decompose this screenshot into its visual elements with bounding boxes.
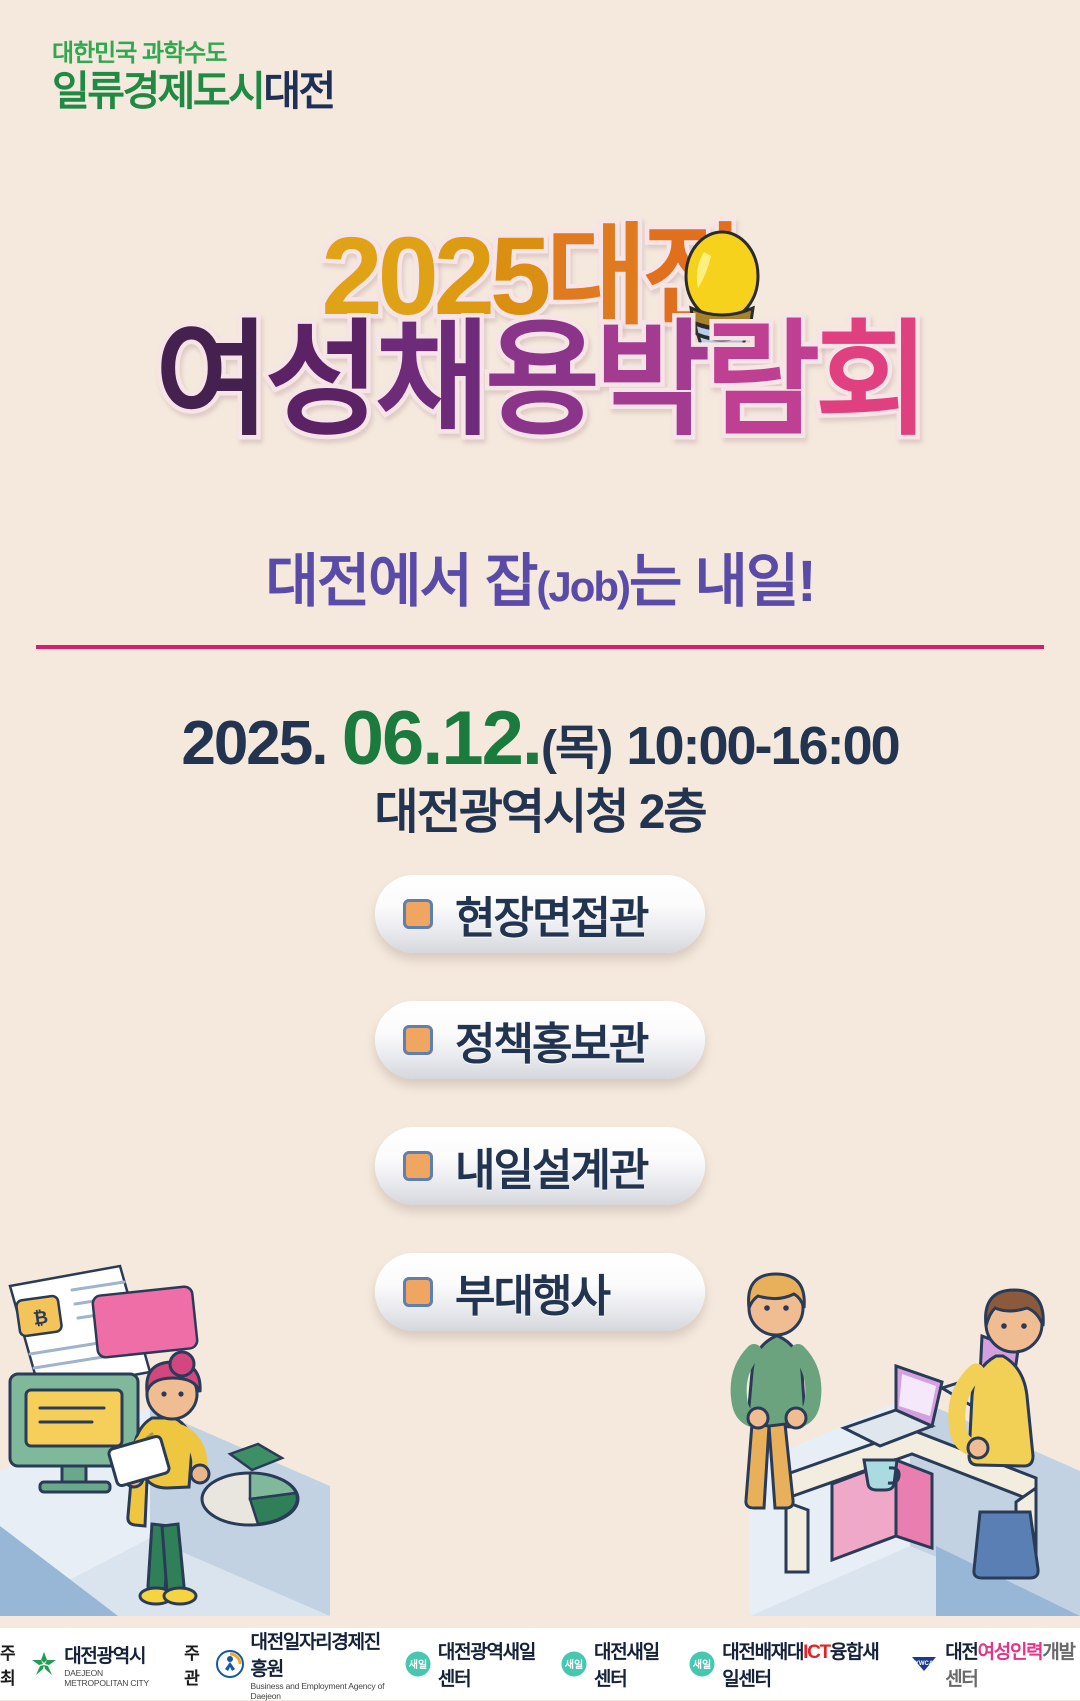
city-tagline: 대한민국 과학수도	[52, 42, 334, 66]
section-divider	[36, 645, 1044, 649]
footer-partner-1: 대전광역새일센터	[438, 1637, 545, 1691]
program-label: 현장면접관	[455, 882, 647, 946]
subtitle-job-word: (Job)	[536, 563, 629, 610]
city-wordmark-navy: 대전	[263, 68, 333, 114]
footer-partner-3: 대전배재대ICT융합새일센터	[722, 1637, 894, 1691]
program-button[interactable]: 부대행사	[375, 1253, 705, 1331]
sponsor-footer: 주최 대전광역시 DAEJEON METROPOLITAN CITY 주관 대전…	[0, 1628, 1080, 1700]
footer-host-key: 주최	[0, 1639, 24, 1689]
footer-host-group: 주최 대전광역시 DAEJEON METROPOLITAN CITY	[0, 1639, 168, 1689]
event-day-of-week: (목)	[541, 722, 611, 775]
orange-square-icon	[403, 1151, 433, 1181]
footer-partner-2: 대전새일센터	[594, 1637, 673, 1691]
footer-organizer-key: 주관	[184, 1639, 208, 1689]
title-char: 여	[155, 318, 265, 443]
ywca-logo-icon: YWCA	[910, 1654, 938, 1674]
event-date-line: 2025. 06.12.(목) 10:00-16:00	[0, 695, 1080, 782]
program-button[interactable]: 내일설계관	[375, 1127, 705, 1205]
saeil-center-icon: 새일	[561, 1651, 587, 1677]
title-char: 채	[375, 318, 485, 443]
event-venue: 대전광역시청 2층	[0, 772, 1080, 842]
city-brand-logo: 대한민국 과학수도 일류경제도시대전	[52, 42, 334, 113]
saeil-center-icon: 새일	[405, 1651, 431, 1677]
footer-partner-4: 대전여성인력개발센터	[945, 1637, 1080, 1691]
title-char: 회	[815, 318, 925, 443]
footer-organizer-sub: Business and Employment Agency of Daejeo…	[251, 1681, 389, 1701]
program-label: 부대행사	[455, 1260, 609, 1324]
illustration-woman-presenting: ₿	[0, 1186, 330, 1616]
event-year: 2025.	[181, 709, 326, 778]
program-label: 내일설계관	[455, 1134, 647, 1198]
poster-subtitle: 대전에서 잡(Job)는 내일!	[0, 534, 1080, 618]
footer-partner-group: 새일 대전배재대ICT융합새일센터	[689, 1637, 894, 1691]
saeil-center-icon: 새일	[689, 1651, 715, 1677]
svg-text:새일: 새일	[409, 1658, 427, 1671]
title-char: 람	[705, 318, 815, 443]
svg-text:₿: ₿	[32, 1307, 49, 1329]
daejeon-city-emblem-icon	[31, 1651, 57, 1677]
event-time: 10:00-16:00	[626, 716, 898, 776]
svg-text:새일: 새일	[565, 1658, 583, 1671]
footer-partner-group: YWCA 대전여성인력개발센터	[910, 1637, 1080, 1691]
city-wordmark-green: 일류경제도시	[52, 68, 263, 114]
footer-partner-4-a: 대전	[945, 1642, 977, 1663]
program-button[interactable]: 현장면접관	[375, 875, 705, 953]
footer-partner-3-a: 대전배재대	[722, 1642, 803, 1663]
title-char: 용	[485, 318, 595, 443]
footer-host-label: 대전광역시	[64, 1646, 145, 1667]
poster-title: 2025대전 여성채용박람회	[0, 222, 1080, 443]
footer-organizer-label: 대전일자리경제진흥원	[251, 1632, 380, 1680]
title-line-two: 여성채용박람회	[155, 318, 925, 443]
city-wordmark: 일류경제도시대전	[52, 69, 334, 113]
event-date: 06.12.	[342, 696, 541, 781]
program-button[interactable]: 정책홍보관	[375, 1001, 705, 1079]
beaj-logo-icon	[216, 1650, 244, 1678]
orange-square-icon	[403, 899, 433, 929]
footer-partner-group: 새일 대전새일센터	[561, 1637, 673, 1691]
subtitle-part-two: 는 내일!	[629, 549, 815, 614]
footer-organizer-group: 주관 대전일자리경제진흥원 Business and Employment Ag…	[184, 1627, 389, 1701]
title-char: 박	[595, 318, 705, 443]
title-char: 성	[265, 318, 375, 443]
illustration-office-desk	[680, 1216, 1080, 1616]
program-label: 정책홍보관	[455, 1008, 647, 1072]
footer-host-sub: DAEJEON METROPOLITAN CITY	[64, 1668, 168, 1688]
svg-text:YWCA: YWCA	[915, 1661, 934, 1667]
orange-square-icon	[403, 1025, 433, 1055]
footer-host-name: 대전광역시 DAEJEON METROPOLITAN CITY	[64, 1641, 168, 1688]
svg-text:새일: 새일	[693, 1658, 711, 1671]
footer-partner-group: 새일 대전광역새일센터	[405, 1637, 545, 1691]
footer-partner-4-b: 여성인력	[978, 1642, 1043, 1663]
footer-organizer-name: 대전일자리경제진흥원 Business and Employment Agenc…	[251, 1627, 389, 1701]
footer-partner-3-b: ICT	[803, 1642, 830, 1663]
orange-square-icon	[403, 1277, 433, 1307]
subtitle-part-one: 대전에서 잡	[265, 549, 536, 614]
